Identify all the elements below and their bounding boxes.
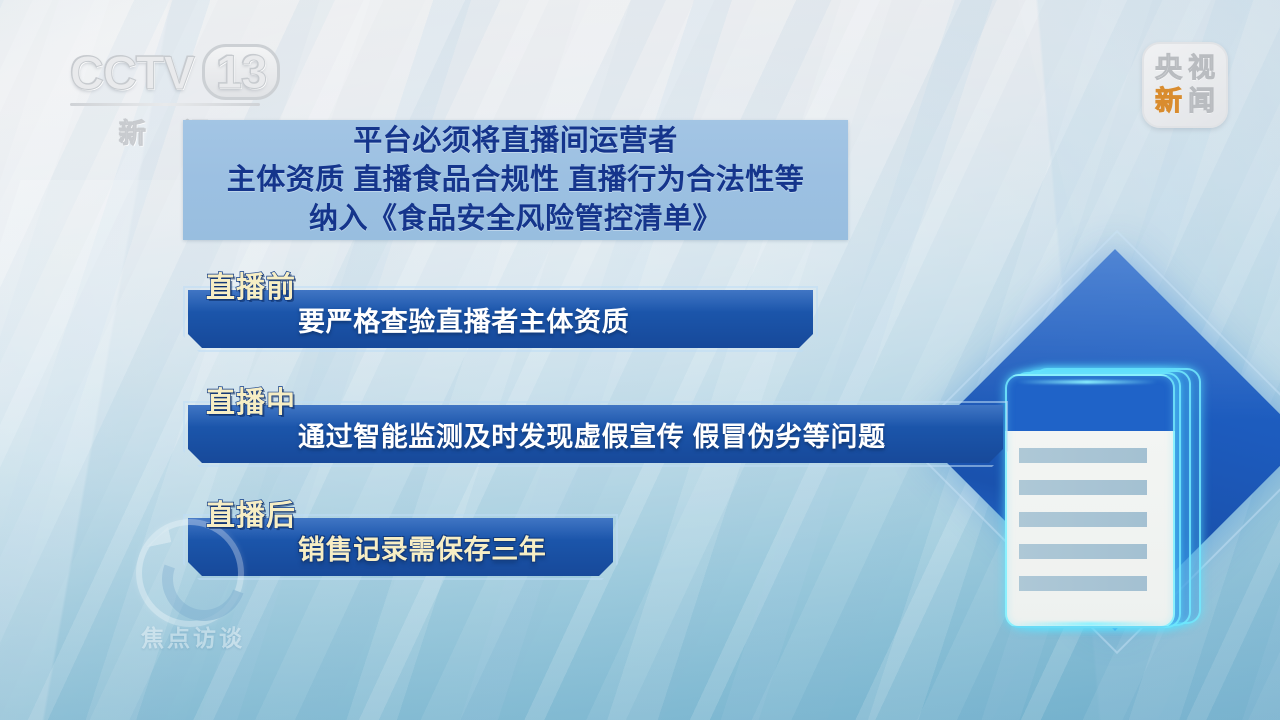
stage-row-before-livestream: 直播前 要严格查验直播者主体资质 bbox=[188, 290, 813, 348]
cctv-channel-number: 13 bbox=[216, 48, 266, 95]
row-body-text: 要严格查验直播者主体资质 bbox=[298, 290, 629, 348]
headline-box: 平台必须将直播间运营者 主体资质 直播食品合规性 直播行为合法性等 纳入《食品安… bbox=[183, 120, 848, 240]
cctv-logo-subtitle-char1: 新 bbox=[119, 112, 146, 151]
stage-row-during-livestream: 直播中 通过智能监测及时发现虚假宣传 假冒伪劣等问题 bbox=[188, 405, 1003, 463]
cctv-logo-letters: CCTV 13 bbox=[70, 44, 275, 100]
document-bottom-glow bbox=[1017, 622, 1162, 626]
row-body-text: 通过智能监测及时发现虚假宣传 假冒伪劣等问题 bbox=[298, 405, 886, 463]
headline-line-2: 主体资质 直播食品合规性 直播行为合法性等 bbox=[227, 161, 805, 199]
cctv-news-logo-char3: 新 bbox=[1155, 88, 1182, 115]
document-text-line bbox=[1019, 512, 1147, 527]
program-watermark: 焦点访谈 bbox=[118, 515, 268, 655]
document-top-glow bbox=[1017, 380, 1157, 384]
row-stage-tag: 直播前 bbox=[206, 264, 296, 306]
document-text-line bbox=[1019, 480, 1147, 495]
headline-line-1: 平台必须将直播间运营者 bbox=[353, 122, 678, 160]
document-text-line bbox=[1019, 576, 1147, 591]
cctv-news-app-logo: 央 视 新 闻 bbox=[1142, 42, 1228, 128]
document-sheet-front bbox=[1005, 374, 1175, 628]
watermark-program-name: 焦点访谈 bbox=[118, 619, 268, 653]
cctv-news-logo-char2: 视 bbox=[1188, 55, 1215, 82]
document-text-line bbox=[1019, 544, 1147, 559]
cctv-news-logo-char4: 闻 bbox=[1188, 88, 1215, 115]
document-stack-graphic bbox=[1005, 372, 1195, 622]
row-body-text: 销售记录需保存三年 bbox=[298, 518, 546, 576]
row-stage-tag: 直播中 bbox=[206, 379, 296, 421]
broadcast-graphic-screen: CCTV 13 新 闻 央 视 新 闻 bbox=[0, 0, 1280, 720]
row-stage-tag: 直播后 bbox=[206, 492, 296, 534]
cctv-logo-underline bbox=[70, 103, 260, 106]
document-text-line bbox=[1019, 448, 1147, 463]
cctv-logo-text: CCTV bbox=[70, 49, 194, 96]
cctv-channel-number-badge: 13 bbox=[202, 44, 280, 100]
headline-line-3: 纳入《食品安全风险管控清单》 bbox=[309, 200, 722, 238]
cctv-news-logo-char1: 央 bbox=[1155, 55, 1182, 82]
